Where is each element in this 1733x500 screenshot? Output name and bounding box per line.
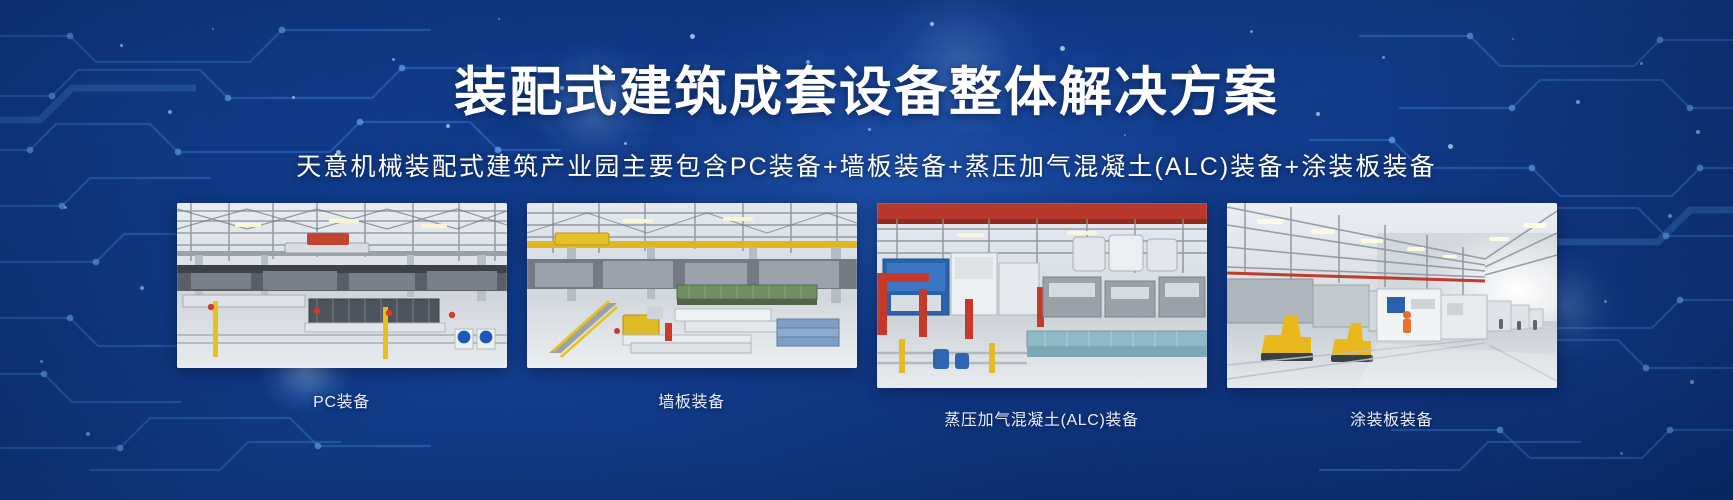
banner-title: 装配式建筑成套设备整体解决方案 (0, 66, 1733, 119)
equipment-card[interactable]: 墙板装备 (527, 203, 857, 412)
coated-panel-equipment-factory-photo[interactable] (1227, 203, 1557, 388)
equipment-card-caption: 墙板装备 (527, 388, 857, 412)
pc-equipment-factory-photo[interactable] (177, 203, 507, 368)
alc-equipment-factory-photo[interactable] (877, 203, 1207, 388)
banner-subtitle: 天意机械装配式建筑产业园主要包含PC装备+墙板装备+蒸压加气混凝土(ALC)装备… (0, 152, 1733, 182)
equipment-card-caption: 蒸压加气混凝土(ALC)装备 (877, 406, 1207, 430)
equipment-card-caption: 涂装板装备 (1227, 406, 1557, 430)
hero-banner: 装配式建筑成套设备整体解决方案 天意机械装配式建筑产业园主要包含PC装备+墙板装… (0, 0, 1733, 500)
equipment-card[interactable]: 蒸压加气混凝土(ALC)装备 (877, 203, 1207, 430)
wall-panel-equipment-factory-photo[interactable] (527, 203, 857, 368)
equipment-card-list: PC装备 (177, 203, 1557, 430)
equipment-card[interactable]: PC装备 (177, 203, 507, 412)
banner-content: 装配式建筑成套设备整体解决方案 天意机械装配式建筑产业园主要包含PC装备+墙板装… (0, 0, 1733, 500)
equipment-card[interactable]: 涂装板装备 (1227, 203, 1557, 430)
equipment-card-caption: PC装备 (177, 388, 507, 412)
